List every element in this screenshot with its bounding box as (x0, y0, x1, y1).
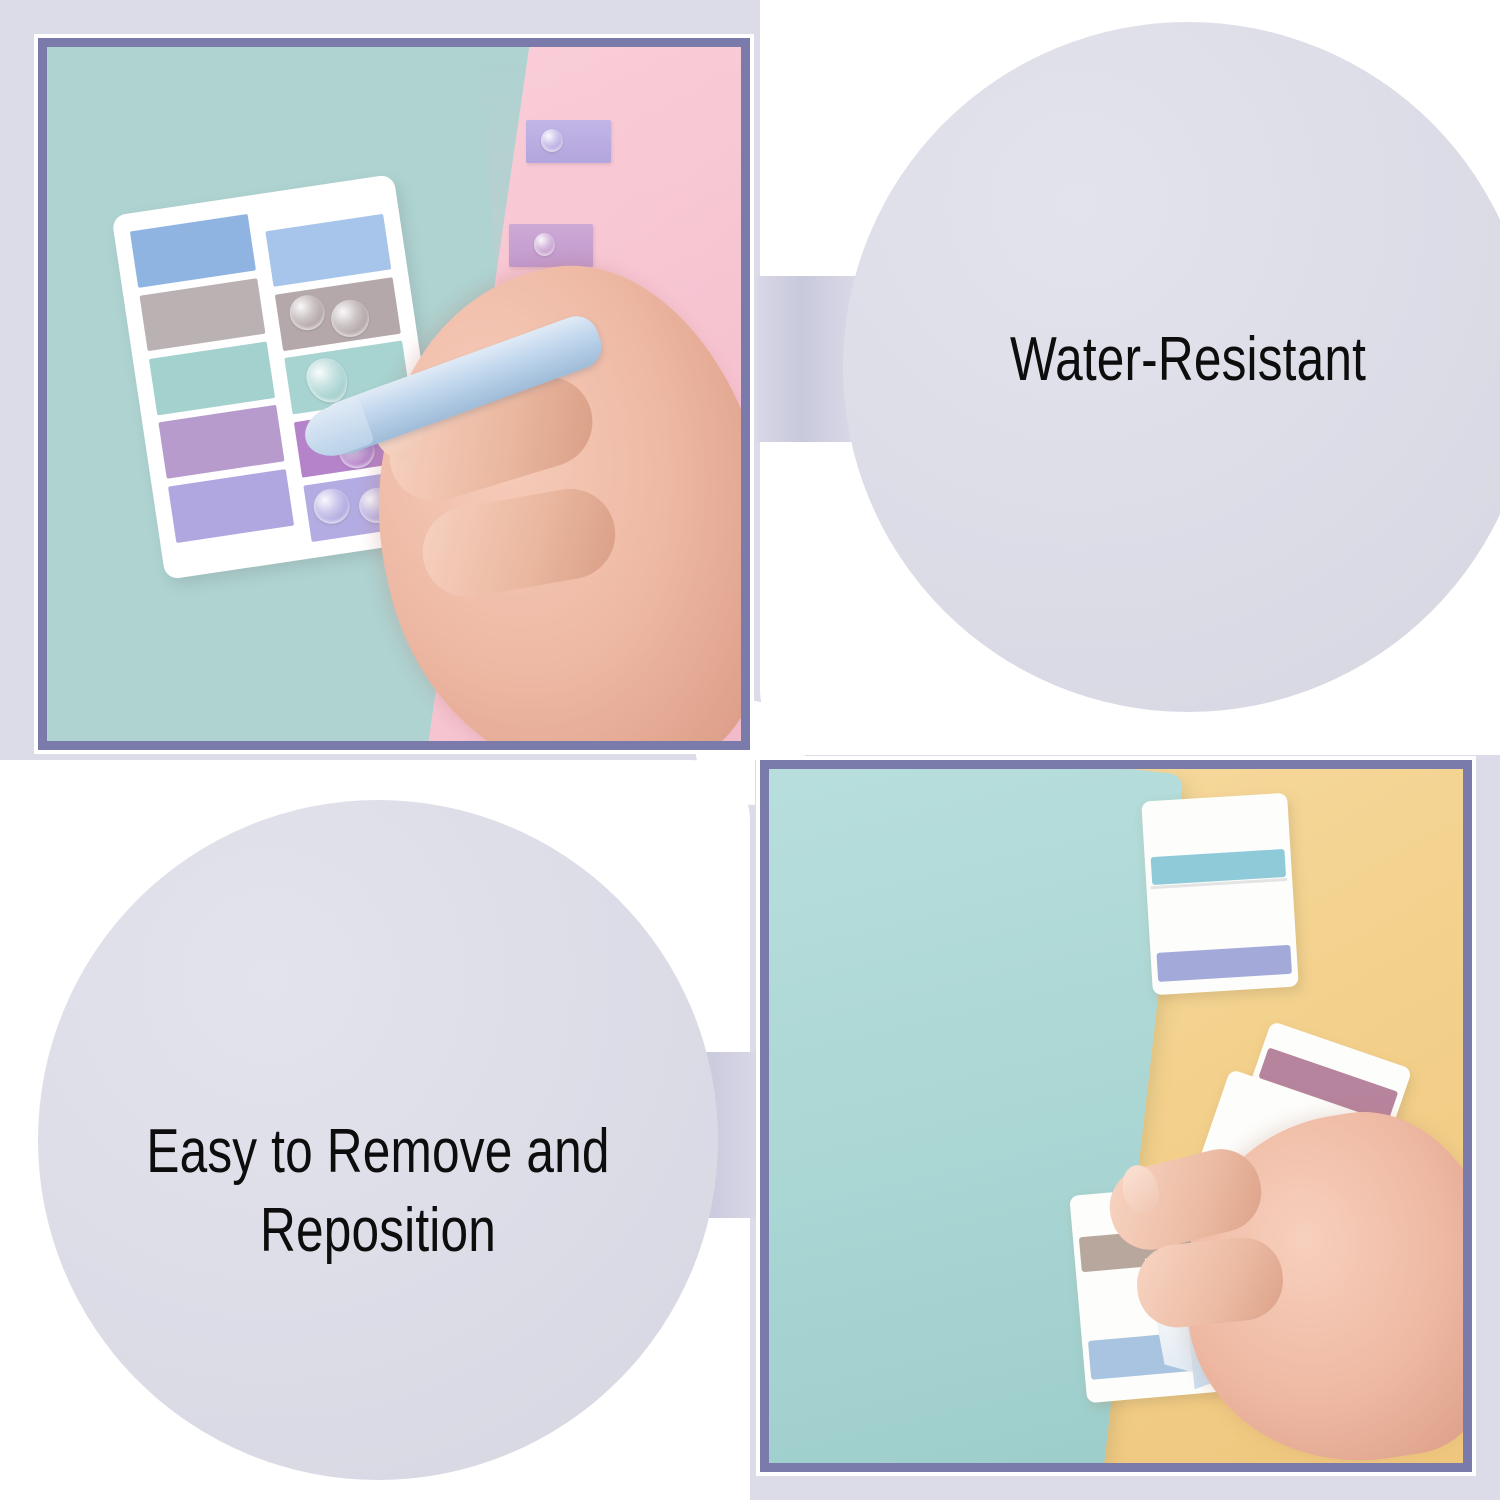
water-droplet (311, 486, 351, 526)
edge-flag-2 (509, 224, 594, 267)
water-droplet (534, 233, 555, 256)
connector-tab-top (757, 276, 857, 442)
photo-removable-tabs-demo (769, 769, 1463, 1463)
flag-left (149, 341, 275, 415)
photo-panel-water-resistance: water proof (38, 38, 750, 750)
photo-water-resistance-demo: water proof (47, 47, 741, 741)
flag-left (130, 214, 256, 288)
water-droplet (287, 292, 327, 332)
flag-left (139, 278, 265, 352)
photo-panel-removable-tabs (760, 760, 1472, 1472)
feature-headline-easy-remove: Easy to Remove and Reposition (106, 1112, 650, 1271)
edge-flag-1 (526, 120, 611, 163)
infographic-canvas: Water-Resistant Easy to Remove and Repos… (0, 0, 1500, 1500)
tab-band-periwinkle (1156, 944, 1292, 981)
flag-left (158, 405, 284, 479)
tab-card-1 (1141, 792, 1298, 995)
water-droplet (541, 129, 563, 151)
flag-left (168, 469, 294, 543)
feature-headline-water-resistant: Water-Resistant (912, 320, 1464, 399)
